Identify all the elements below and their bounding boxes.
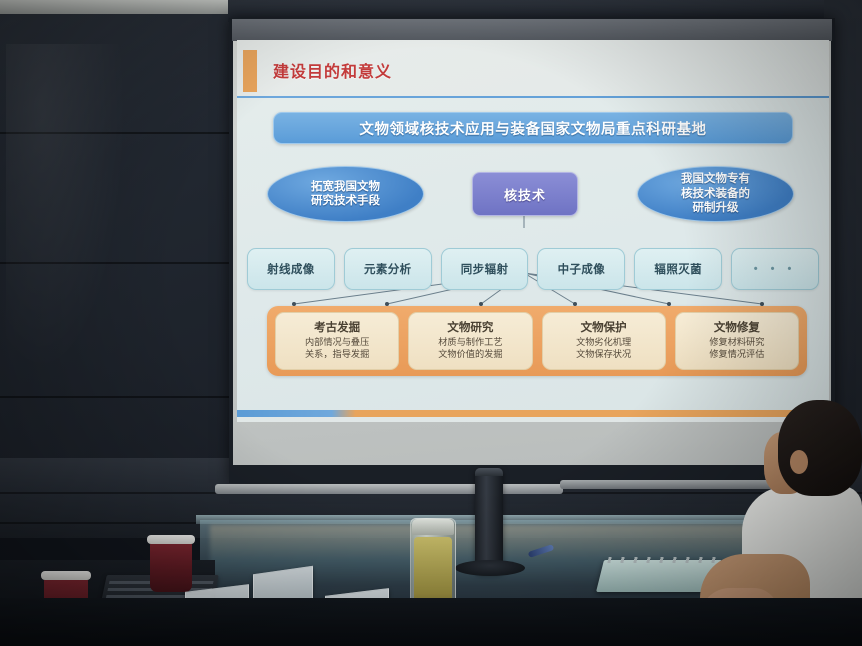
technique-chip: 中子成像 [537, 248, 625, 290]
coffee-cup[interactable] [150, 540, 192, 592]
application-card: 文物研究 材质与制作工艺 文物价值的发掘 [408, 312, 532, 370]
footer-divider-rule [237, 410, 829, 417]
wall-panel-left [0, 14, 238, 460]
application-card: 文物修复 修复材料研究 修复情况评估 [675, 312, 799, 370]
attendee-ear [790, 450, 808, 474]
projection-screen-housing [232, 19, 832, 41]
slide-title: 建设目的和意义 [273, 58, 392, 82]
application-card-line1: 材质与制作工艺 [438, 337, 502, 349]
microphone-base [455, 560, 525, 576]
application-card-heading: 文物修复 [714, 322, 760, 335]
application-card-heading: 文物研究 [447, 322, 493, 335]
application-card-line1: 内部情况与叠压 [305, 337, 369, 349]
technique-chip-label: 中子成像 [558, 261, 606, 277]
goal-left-line1: 拓宽我国文物 [311, 180, 380, 194]
application-card-line2: 修复情况评估 [709, 349, 764, 361]
application-card-line2: 文物价值的发掘 [438, 349, 502, 361]
conference-microphone[interactable] [475, 468, 503, 573]
technique-chip-label: 同步辐射 [461, 261, 509, 277]
technique-chip-row: 射线成像 元素分析 同步辐射 中子成像 辐照灭菌 • • • [247, 248, 819, 290]
technique-chip-ellipsis: • • • [731, 248, 819, 290]
table-front-edge [0, 598, 862, 646]
technique-chip-label: 辐照灭菌 [654, 261, 702, 277]
core-tech-label: 核技术 [504, 185, 546, 204]
application-card: 考古发掘 内部情况与叠压 关系，指导发掘 [275, 312, 399, 370]
root-node-label: 文物领域核技术应用与装备国家文物局重点科研基地 [359, 118, 706, 139]
root-node-box: 文物领域核技术应用与装备国家文物局重点科研基地 [273, 112, 793, 144]
technique-chip-label: 射线成像 [267, 261, 315, 277]
goal-right-line2: 核技术装备的 [681, 187, 750, 201]
attendee-head [778, 400, 862, 496]
goal-right-line1: 我国文物专有 [681, 172, 750, 186]
application-card-line2: 文物保存状况 [576, 349, 631, 361]
technique-chip-label: 元素分析 [364, 261, 412, 277]
technique-chip: 同步辐射 [441, 248, 529, 290]
application-card: 文物保护 文物劣化机理 文物保存状况 [542, 312, 666, 370]
goal-right-line3: 研制升级 [681, 201, 750, 215]
wall-light-sheen [6, 44, 126, 374]
goal-node-left: 拓宽我国文物 研究技术手段 [267, 166, 424, 222]
screen-bottom-bar [215, 484, 563, 494]
core-tech-node: 核技术 [472, 172, 578, 216]
application-card-line1: 文物劣化机理 [576, 337, 631, 349]
conference-room-scene: 建设目的和意义 [0, 0, 862, 646]
goal-left-line2: 研究技术手段 [311, 194, 380, 208]
technique-chip: 元素分析 [344, 248, 432, 290]
presentation-slide: 建设目的和意义 [237, 40, 829, 422]
technique-chip: 辐照灭菌 [634, 248, 722, 290]
slide-diagram-area: 文物领域核技术应用与装备国家文物局重点科研基地 拓宽我国文物 研究技术手段 核技… [237, 98, 829, 411]
application-card-heading: 文物保护 [581, 322, 627, 335]
application-card-line2: 关系，指导发掘 [305, 349, 369, 361]
technique-chip: 射线成像 [247, 248, 335, 290]
technique-chip-label: • • • [754, 263, 797, 275]
goal-node-right: 我国文物专有 核技术装备的 研制升级 [637, 166, 794, 222]
application-card-line1: 修复材料研究 [709, 337, 764, 349]
application-card-heading: 考古发掘 [314, 322, 360, 335]
application-band: 考古发掘 内部情况与叠压 关系，指导发掘 文物研究 材质与制作工艺 文物价值的发… [267, 306, 807, 376]
title-accent-bar [243, 50, 257, 92]
